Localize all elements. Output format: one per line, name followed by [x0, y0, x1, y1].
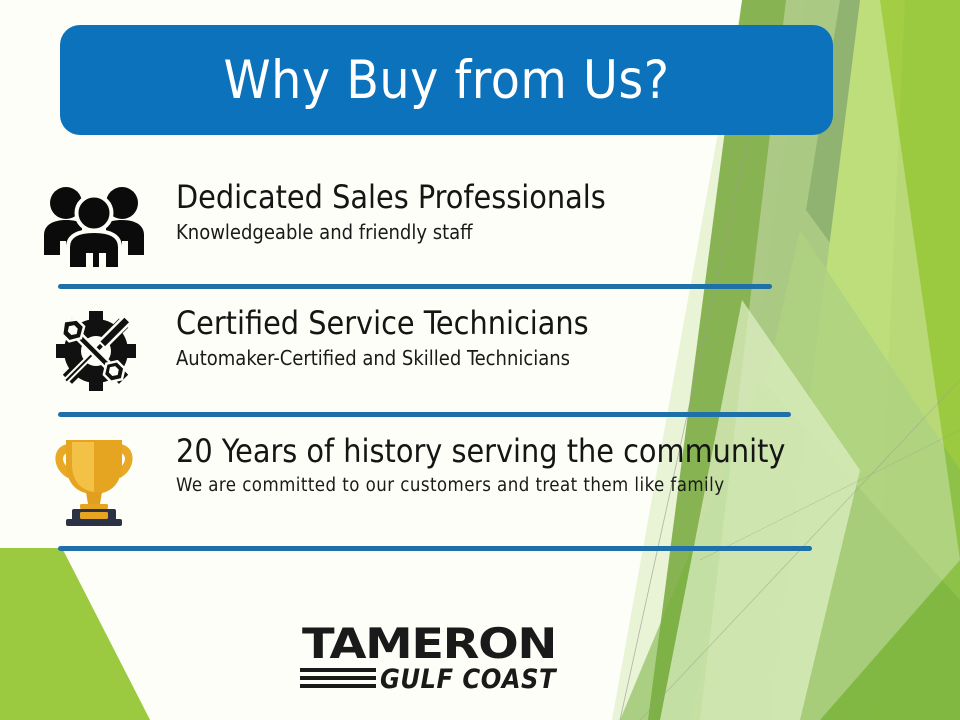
logo-stripes — [300, 668, 376, 688]
feature-text: 20 Years of history serving the communit… — [176, 434, 836, 496]
section-divider — [58, 284, 772, 289]
tameron-gulf-coast-logo: TAMERON GULF COAST — [292, 620, 564, 700]
feature-row: Dedicated Sales Professionals Knowledgea… — [38, 180, 838, 276]
group-of-people-icon — [38, 180, 150, 272]
feature-title: Dedicated Sales Professionals — [176, 180, 836, 216]
feature-row: 20 Years of history serving the communit… — [38, 434, 838, 530]
logo-primary-text: TAMERON — [302, 620, 556, 668]
feature-text: Certified Service Technicians Automaker-… — [176, 306, 836, 370]
slide: Why Buy from Us? — [0, 0, 960, 720]
section-divider — [58, 546, 812, 551]
section-divider — [58, 412, 791, 417]
title-banner: Why Buy from Us? — [60, 25, 833, 135]
feature-row: Certified Service Technicians Automaker-… — [38, 306, 838, 402]
logo-secondary-text: GULF COAST — [380, 664, 558, 695]
green-shape-bright-2 — [872, 0, 960, 720]
wrench-screwdriver-gear-icon — [38, 306, 150, 398]
feature-subtitle: We are committed to our customers and tr… — [176, 475, 836, 496]
feature-subtitle: Knowledgeable and friendly staff — [176, 221, 836, 244]
green-wedge-left-top — [0, 548, 150, 720]
feature-text: Dedicated Sales Professionals Knowledgea… — [176, 180, 836, 244]
feature-subtitle: Automaker-Certified and Skilled Technici… — [176, 347, 836, 370]
trophy-icon — [38, 434, 150, 526]
green-wedge-left — [0, 548, 150, 720]
feature-title: Certified Service Technicians — [176, 306, 836, 342]
feature-title: 20 Years of history serving the communit… — [176, 434, 836, 470]
page-title: Why Buy from Us? — [223, 54, 669, 107]
